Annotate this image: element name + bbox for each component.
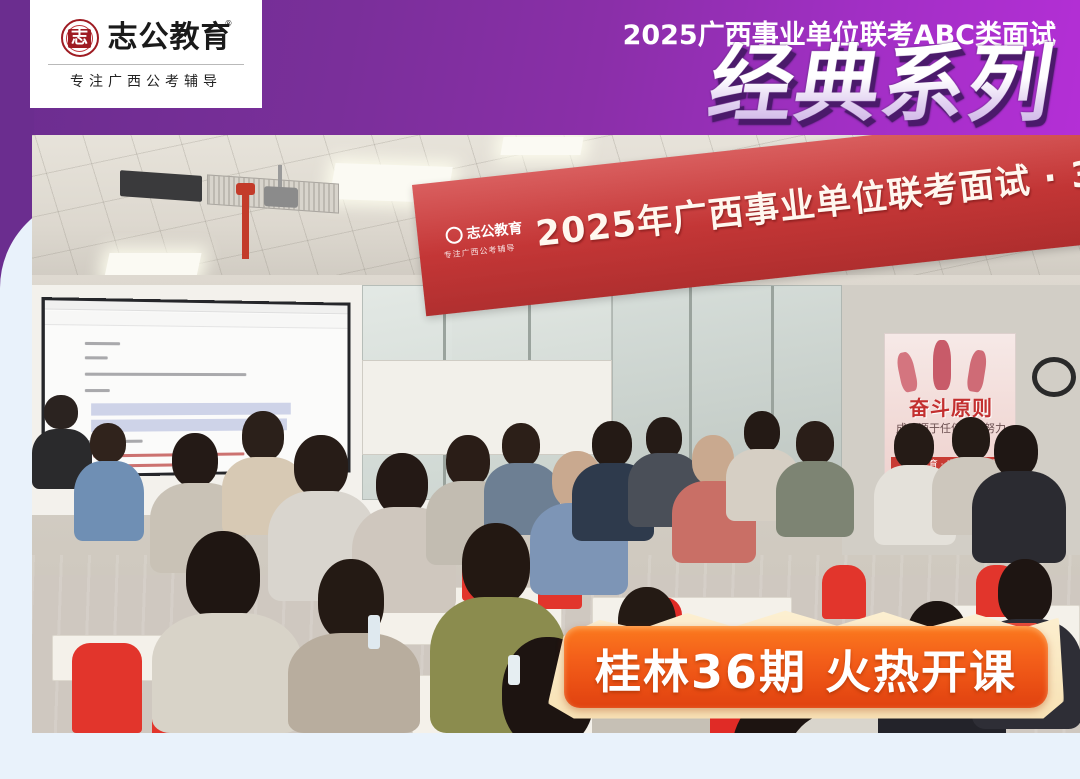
promo-poster: 志 志公教育® 专注广西公考辅导 2025广西事业单位联考ABC类面试 经典系列: [0, 0, 1080, 779]
person-body: [74, 461, 144, 541]
ceiling-red-tassel: [242, 187, 249, 259]
banner-seal-icon: [445, 225, 464, 244]
person-head: [242, 411, 284, 461]
person-head: [502, 423, 540, 467]
poster-title: 奋斗原则: [891, 392, 1011, 421]
person-body: [972, 471, 1066, 563]
person-head: [592, 421, 632, 467]
person-head: [294, 435, 348, 497]
chair: [72, 643, 142, 733]
person-head: [952, 417, 990, 461]
person-head: [376, 453, 428, 515]
person-head: [172, 433, 218, 487]
person-head: [186, 531, 260, 621]
course-launch-ribbon: 桂林36期 火热开课: [556, 600, 1056, 732]
water-bottle: [508, 655, 520, 685]
brand-seal-char: 志: [68, 29, 91, 48]
brand-name: 志公教育®: [108, 23, 232, 53]
person-body: [152, 613, 302, 733]
person-head: [90, 423, 126, 463]
ceiling-light: [500, 137, 583, 155]
brand-logo-plate: 志 志公教育® 专注广西公考辅导: [30, 0, 262, 108]
ceiling-light: [104, 253, 201, 277]
person-body: [288, 633, 420, 733]
brand-divider: [48, 64, 244, 65]
person-head: [446, 435, 490, 487]
person-head: [462, 523, 530, 605]
brand-logo-row: 志 志公教育®: [61, 19, 232, 57]
projector: [264, 186, 298, 208]
header-main-title: 经典系列: [703, 42, 1060, 126]
water-bottle: [368, 615, 380, 649]
brand-seal-icon: 志: [61, 19, 99, 57]
wall-cabinet: [362, 360, 612, 455]
person-head: [894, 423, 934, 469]
person-head: [744, 411, 780, 453]
brand-tagline: 专注广西公考辅导: [70, 71, 222, 91]
person-body: [776, 461, 854, 537]
person-head: [994, 425, 1038, 477]
registered-mark: ®: [225, 20, 234, 28]
person-head: [796, 421, 834, 465]
coiled-cable: [1032, 357, 1076, 397]
ribbon-text: 桂林36期 火热开课: [564, 630, 1048, 708]
brand-name-text: 志公教育: [108, 20, 232, 55]
person-head: [44, 395, 78, 429]
